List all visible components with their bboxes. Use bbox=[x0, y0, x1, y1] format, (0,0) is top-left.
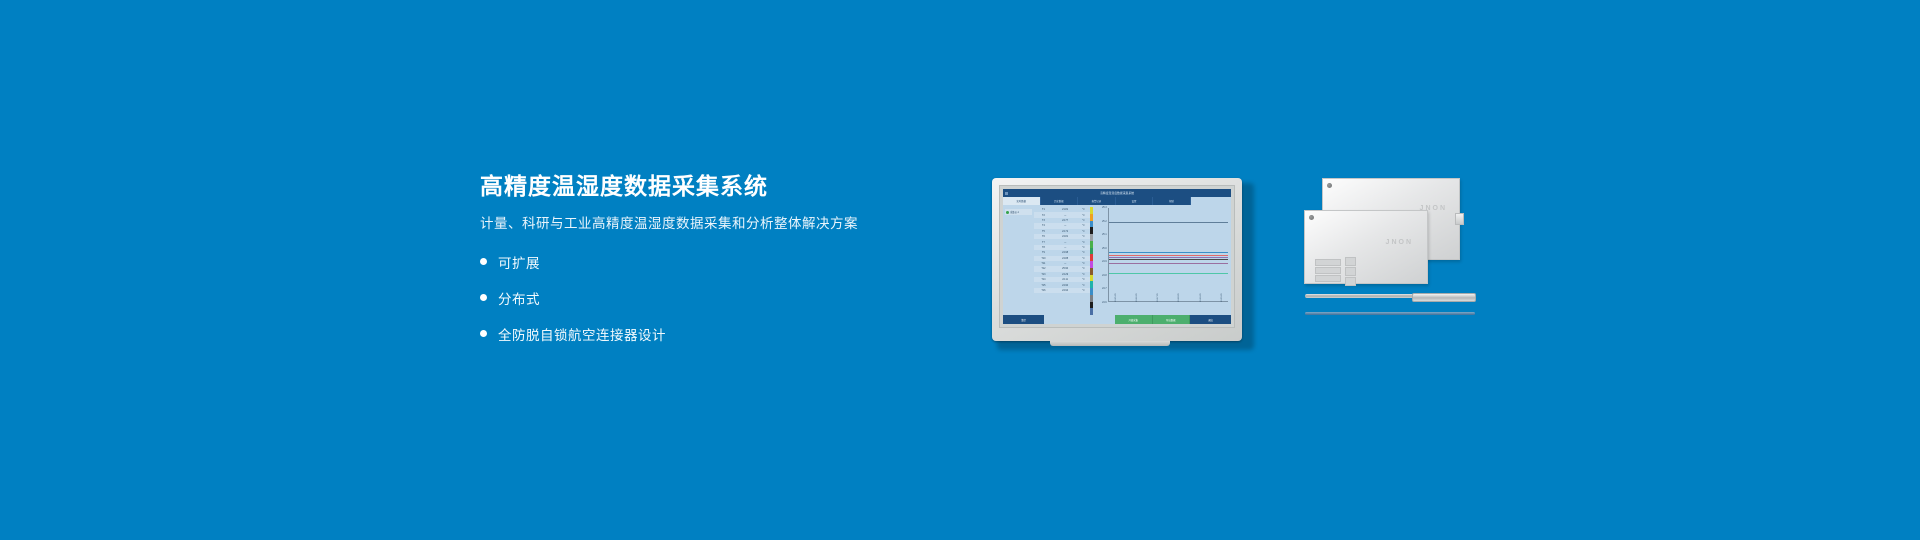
list-item: 可扩展 bbox=[480, 252, 1000, 272]
chart-series-line bbox=[1109, 255, 1228, 256]
app-window-title: 高精度温湿度数据采集系统 bbox=[1100, 191, 1134, 195]
y-tick-label: 24.9 bbox=[1102, 261, 1106, 263]
channel-color-legend bbox=[1090, 207, 1093, 315]
feature-list: 可扩展 分布式 全防脱自锁航空连接器设计 bbox=[480, 252, 1000, 344]
x-tick-label: 10:19:20 bbox=[1200, 293, 1202, 302]
port-icon bbox=[1345, 267, 1356, 276]
y-tick-label: 25.3 bbox=[1102, 207, 1106, 209]
screw-icon bbox=[1309, 215, 1314, 220]
chart-plot-area bbox=[1108, 208, 1228, 302]
chart-series-line bbox=[1109, 273, 1228, 274]
legend-swatch bbox=[1090, 275, 1093, 282]
sensor-cable bbox=[1305, 312, 1475, 315]
device-tree-item[interactable]: 采集仪-1 bbox=[1005, 209, 1032, 215]
cell-channel: T6 bbox=[1034, 235, 1053, 238]
page-subtitle: 计量、科研与工业高精度温湿度数据采集和分析整体解决方案 bbox=[480, 215, 1000, 234]
feature-label: 全防脱自锁航空连接器设计 bbox=[498, 324, 666, 344]
monitor-inner-frame: 高精度温湿度数据采集系统 实时数据 历史数据 报警记录 设置 帮助 bbox=[999, 185, 1235, 328]
cell-value: 24.98 bbox=[1053, 251, 1078, 254]
app-menu-icon[interactable] bbox=[1005, 192, 1008, 195]
monitor-bezel: 高精度温湿度数据采集系统 实时数据 历史数据 报警记录 设置 帮助 bbox=[992, 178, 1242, 341]
cell-value: 24.77 bbox=[1053, 219, 1078, 222]
dot-bullet-icon bbox=[480, 330, 487, 337]
page-title: 高精度温湿度数据采集系统 bbox=[480, 172, 1000, 201]
chart-series-line bbox=[1109, 257, 1228, 258]
feature-label: 可扩展 bbox=[498, 252, 540, 272]
export-data-button[interactable]: 导出数据 bbox=[1153, 315, 1190, 324]
x-tick-label: 10:16:20 bbox=[1136, 293, 1138, 302]
cell-unit: ℃ bbox=[1077, 251, 1089, 254]
cell-channel: T12 bbox=[1034, 267, 1053, 270]
cell-value: 24.81 bbox=[1053, 235, 1078, 238]
y-tick-label: 24.8 bbox=[1102, 275, 1106, 277]
y-tick-label: 25.0 bbox=[1102, 248, 1106, 250]
device-and-readings-panel: 采集仪-1 T121.81℃T2---℃T324.77℃T4---℃T524.7… bbox=[1003, 205, 1090, 315]
chart-y-axis: 25.325.225.125.024.924.824.724.6 bbox=[1095, 207, 1108, 302]
legend-swatch bbox=[1090, 248, 1093, 255]
cell-channel: T1 bbox=[1034, 208, 1053, 211]
clear-button[interactable]: 清空 bbox=[1003, 315, 1044, 324]
panel-pc-monitor: 高精度温湿度数据采集系统 实时数据 历史数据 报警记录 设置 帮助 bbox=[992, 178, 1254, 350]
cell-value: 24.90 bbox=[1053, 284, 1078, 287]
cell-channel: T3 bbox=[1034, 219, 1053, 222]
cell-value: 24.94 bbox=[1053, 289, 1078, 292]
cell-unit: ℃ bbox=[1077, 246, 1089, 249]
cell-channel: T2 bbox=[1034, 214, 1053, 217]
exit-button[interactable]: 退出 bbox=[1190, 315, 1231, 324]
legend-swatch bbox=[1090, 221, 1093, 228]
table-row[interactable]: T1624.94℃ bbox=[1034, 288, 1090, 293]
cell-unit: ℃ bbox=[1077, 230, 1089, 233]
app-footer: 清空 开始采集 导出数据 退出 bbox=[1003, 315, 1231, 324]
cell-value: 24.29 bbox=[1053, 273, 1078, 276]
list-item: 全防脱自锁航空连接器设计 bbox=[480, 324, 1000, 344]
start-acquisition-button[interactable]: 开始采集 bbox=[1115, 315, 1152, 324]
hardware-group: JNON JNON bbox=[1300, 172, 1480, 342]
legend-swatch bbox=[1090, 254, 1093, 261]
cell-channel: T13 bbox=[1034, 273, 1053, 276]
monitor-screen: 高精度温湿度数据采集系统 实时数据 历史数据 报警记录 设置 帮助 bbox=[1003, 189, 1231, 324]
cell-channel: T15 bbox=[1034, 284, 1053, 287]
cell-unit: ℃ bbox=[1077, 241, 1089, 244]
cell-unit: ℃ bbox=[1077, 262, 1089, 265]
screw-icon bbox=[1327, 183, 1332, 188]
app-tabbar: 实时数据 历史数据 报警记录 设置 帮助 bbox=[1003, 197, 1231, 205]
cell-value: 25.90 bbox=[1053, 267, 1078, 270]
legend-swatch bbox=[1090, 281, 1093, 288]
x-tick-label: 10:20:20 bbox=[1221, 293, 1223, 302]
dot-bullet-icon bbox=[480, 294, 487, 301]
legend-swatch bbox=[1090, 268, 1093, 275]
cell-unit: ℃ bbox=[1077, 267, 1089, 270]
cell-unit: ℃ bbox=[1077, 235, 1089, 238]
tab-help[interactable]: 帮助 bbox=[1153, 197, 1191, 205]
chart-x-axis: 10:15:2010:16:2010:17:2010:18:2010:19:20… bbox=[1108, 302, 1228, 313]
list-item: 分布式 bbox=[480, 288, 1000, 308]
product-banner: 高精度温湿度数据采集系统 计量、科研与工业高精度温湿度数据采集和分析整体解决方案… bbox=[0, 0, 1920, 540]
cell-channel: T10 bbox=[1034, 257, 1053, 260]
vent-grille-icon bbox=[1315, 267, 1341, 274]
tab-history[interactable]: 历史数据 bbox=[1041, 197, 1079, 205]
cell-value: 24.72 bbox=[1053, 230, 1078, 233]
cell-unit: ℃ bbox=[1077, 289, 1089, 292]
brand-logo: JNON bbox=[1386, 239, 1413, 246]
data-acquisition-unit-front: JNON bbox=[1304, 210, 1428, 284]
chart-series-line bbox=[1109, 222, 1228, 223]
y-tick-label: 24.6 bbox=[1102, 302, 1106, 304]
app-titlebar: 高精度温湿度数据采集系统 bbox=[1003, 189, 1231, 197]
cell-unit: ℃ bbox=[1077, 208, 1089, 211]
cell-channel: T8 bbox=[1034, 246, 1053, 249]
cell-value: 24.11 bbox=[1053, 278, 1078, 281]
banner-copy: 高精度温湿度数据采集系统 计量、科研与工业高精度温湿度数据采集和分析整体解决方案… bbox=[480, 172, 1000, 360]
cell-channel: T9 bbox=[1034, 251, 1053, 254]
cell-unit: ℃ bbox=[1077, 257, 1089, 260]
legend-swatch bbox=[1090, 207, 1093, 214]
cell-channel: T16 bbox=[1034, 289, 1053, 292]
tab-realtime[interactable]: 实时数据 bbox=[1003, 197, 1041, 205]
vent-grille-icon bbox=[1315, 259, 1341, 266]
cell-channel: T14 bbox=[1034, 278, 1053, 281]
y-tick-label: 25.2 bbox=[1102, 221, 1106, 223]
cell-channel: T5 bbox=[1034, 230, 1053, 233]
tab-alarms[interactable]: 报警记录 bbox=[1078, 197, 1116, 205]
legend-swatch bbox=[1090, 241, 1093, 248]
legend-swatch bbox=[1090, 308, 1093, 315]
tabbar-filler bbox=[1191, 197, 1231, 205]
chart-series-line bbox=[1109, 259, 1228, 260]
legend-swatch bbox=[1090, 214, 1093, 221]
chart-series-line bbox=[1109, 252, 1228, 253]
cell-unit: ℃ bbox=[1077, 219, 1089, 222]
cell-unit: ℃ bbox=[1077, 278, 1089, 281]
device-online-icon bbox=[1006, 211, 1009, 214]
legend-swatch bbox=[1090, 302, 1093, 309]
cell-channel: T7 bbox=[1034, 241, 1053, 244]
cell-value: --- bbox=[1053, 246, 1078, 249]
cell-unit: ℃ bbox=[1077, 273, 1089, 276]
footer-gap bbox=[1044, 315, 1115, 324]
tab-settings[interactable]: 设置 bbox=[1116, 197, 1154, 205]
cell-value: --- bbox=[1053, 214, 1078, 217]
cell-unit: ℃ bbox=[1077, 284, 1089, 287]
cell-value: 21.81 bbox=[1053, 208, 1078, 211]
y-tick-label: 24.7 bbox=[1102, 288, 1106, 290]
trend-chart: 25.325.225.125.024.924.824.724.6 10:15:2… bbox=[1094, 205, 1231, 315]
feature-label: 分布式 bbox=[498, 288, 540, 308]
legend-swatch bbox=[1090, 288, 1093, 295]
legend-swatch bbox=[1090, 261, 1093, 268]
dot-bullet-icon bbox=[480, 258, 487, 265]
legend-swatch bbox=[1090, 234, 1093, 241]
cell-unit: ℃ bbox=[1077, 224, 1089, 227]
device-tree-label: 采集仪-1 bbox=[1010, 210, 1019, 214]
legend-swatch bbox=[1090, 227, 1093, 234]
probe-handle bbox=[1412, 293, 1476, 302]
cell-value: --- bbox=[1053, 241, 1078, 244]
port-icon bbox=[1345, 257, 1356, 266]
cell-channel: T4 bbox=[1034, 224, 1053, 227]
y-tick-label: 25.1 bbox=[1102, 234, 1106, 236]
cell-unit: ℃ bbox=[1077, 214, 1089, 217]
app-body: 采集仪-1 T121.81℃T2---℃T324.77℃T4---℃T524.7… bbox=[1003, 205, 1231, 315]
cell-channel: T11 bbox=[1034, 262, 1053, 265]
monitor-stand bbox=[1050, 341, 1170, 346]
cell-value: --- bbox=[1053, 262, 1078, 265]
x-tick-label: 10:17:20 bbox=[1157, 293, 1159, 302]
vent-grille-icon bbox=[1315, 275, 1341, 282]
device-tree: 采集仪-1 bbox=[1005, 207, 1033, 315]
connector-port bbox=[1455, 213, 1464, 225]
x-tick-label: 10:15:20 bbox=[1115, 293, 1117, 302]
chart-series-line bbox=[1109, 263, 1228, 264]
port-icon bbox=[1345, 277, 1356, 286]
cell-value: 24.88 bbox=[1053, 257, 1078, 260]
readings-table: T121.81℃T2---℃T324.77℃T4---℃T524.72℃T624… bbox=[1033, 207, 1090, 315]
cell-value: --- bbox=[1053, 224, 1078, 227]
legend-swatch bbox=[1090, 295, 1093, 302]
